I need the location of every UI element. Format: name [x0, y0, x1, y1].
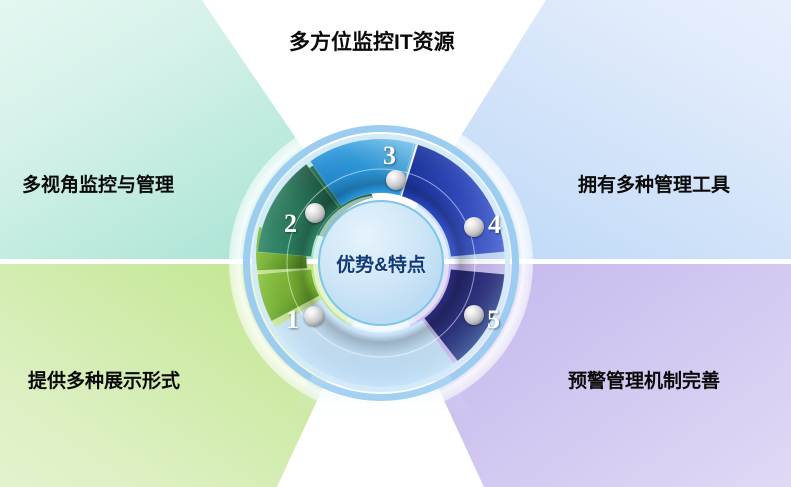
marker-sphere-1: [304, 306, 324, 326]
label-left-upper: 多视角监控与管理: [22, 170, 174, 197]
label-top: 多方位监控IT资源: [289, 26, 455, 56]
segment-number-1: 1: [286, 307, 299, 333]
segment-number-5: 5: [487, 307, 500, 333]
marker-sphere-3: [386, 170, 406, 190]
marker-sphere-5: [464, 305, 484, 325]
marker-sphere-4: [464, 217, 484, 237]
segment-number-2: 2: [284, 211, 297, 237]
center-disc: 优势&特点: [318, 200, 444, 326]
label-right-lower: 预警管理机制完善: [568, 366, 720, 393]
center-label: 优势&特点: [336, 250, 426, 277]
label-left-lower: 提供多种展示形式: [28, 366, 180, 393]
segment-number-3: 3: [383, 143, 396, 169]
segment-number-4: 4: [488, 212, 501, 238]
label-right-upper: 拥有多种管理工具: [578, 170, 730, 197]
marker-sphere-2: [305, 203, 325, 223]
infographic-canvas: 1 2 3 4 5 优势&特点 多方位监控IT资源 多视角监控与管理 提供多种展…: [0, 0, 791, 487]
